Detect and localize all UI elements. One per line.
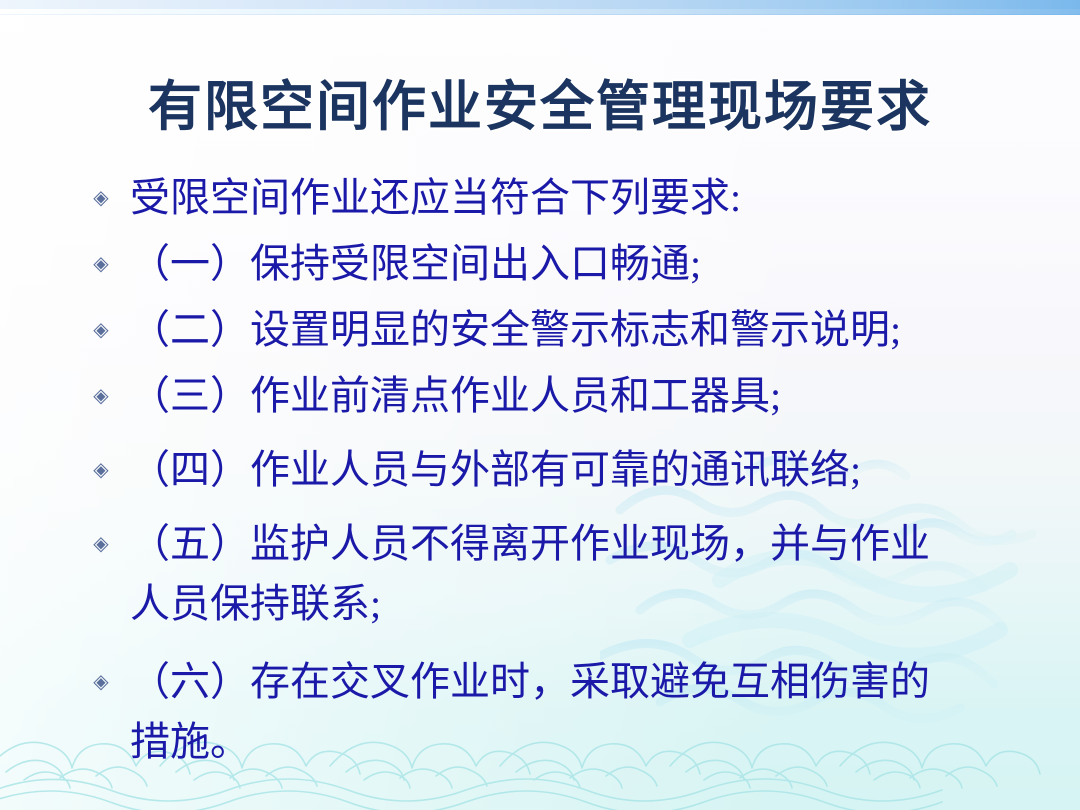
list-item-text: 人员保持联系;	[130, 574, 381, 634]
list-item: ◈ （三）作业前清点作业人员和工器具;	[84, 366, 1044, 426]
list-item-text: （六）存在交叉作业时，采取避免互相伤害的	[130, 652, 930, 712]
diamond-bullet-icon: ◈	[84, 300, 118, 360]
list-item: ◈ （四）作业人员与外部有可靠的通讯联络;	[84, 440, 1044, 500]
diamond-bullet-icon: ◈	[84, 168, 118, 228]
slide-canvas: 有限空间作业安全管理现场要求 ◈ 受限空间作业还应当符合下列要求: ◈ （一）保…	[0, 0, 1080, 810]
spacer	[84, 500, 1044, 514]
spacer	[84, 634, 1044, 652]
diamond-bullet-icon: ◈	[84, 652, 118, 712]
list-item-text: （二）设置明显的安全警示标志和警示说明;	[130, 300, 901, 360]
list-item-continuation: 人员保持联系;	[84, 574, 1044, 634]
diamond-bullet-icon: ◈	[84, 366, 118, 426]
list-item-text: 措施。	[130, 712, 250, 772]
list-item: ◈ （五）监护人员不得离开作业现场，并与作业	[84, 514, 1044, 574]
list-item-text: （三）作业前清点作业人员和工器具;	[130, 366, 781, 426]
list-item: ◈ （一）保持受限空间出入口畅通;	[84, 234, 1044, 294]
requirements-list: ◈ 受限空间作业还应当符合下列要求: ◈ （一）保持受限空间出入口畅通; ◈ （…	[84, 168, 1044, 772]
list-item-text: （四）作业人员与外部有可靠的通讯联络;	[130, 440, 861, 500]
page-title: 有限空间作业安全管理现场要求	[0, 62, 1080, 141]
diamond-bullet-icon: ◈	[84, 440, 118, 500]
list-item: ◈ （二）设置明显的安全警示标志和警示说明;	[84, 300, 1044, 360]
list-item-continuation: 措施。	[84, 712, 1044, 772]
diamond-bullet-icon: ◈	[84, 234, 118, 294]
list-item-text: （一）保持受限空间出入口畅通;	[130, 234, 701, 294]
list-item: ◈ 受限空间作业还应当符合下列要求:	[84, 168, 1044, 228]
list-item: ◈ （六）存在交叉作业时，采取避免互相伤害的	[84, 652, 1044, 712]
top-accent-highlight	[0, 9, 1080, 14]
diamond-bullet-icon: ◈	[84, 514, 118, 574]
list-item-text: （五）监护人员不得离开作业现场，并与作业	[130, 514, 930, 574]
list-item-text: 受限空间作业还应当符合下列要求:	[130, 168, 741, 228]
spacer	[84, 426, 1044, 440]
